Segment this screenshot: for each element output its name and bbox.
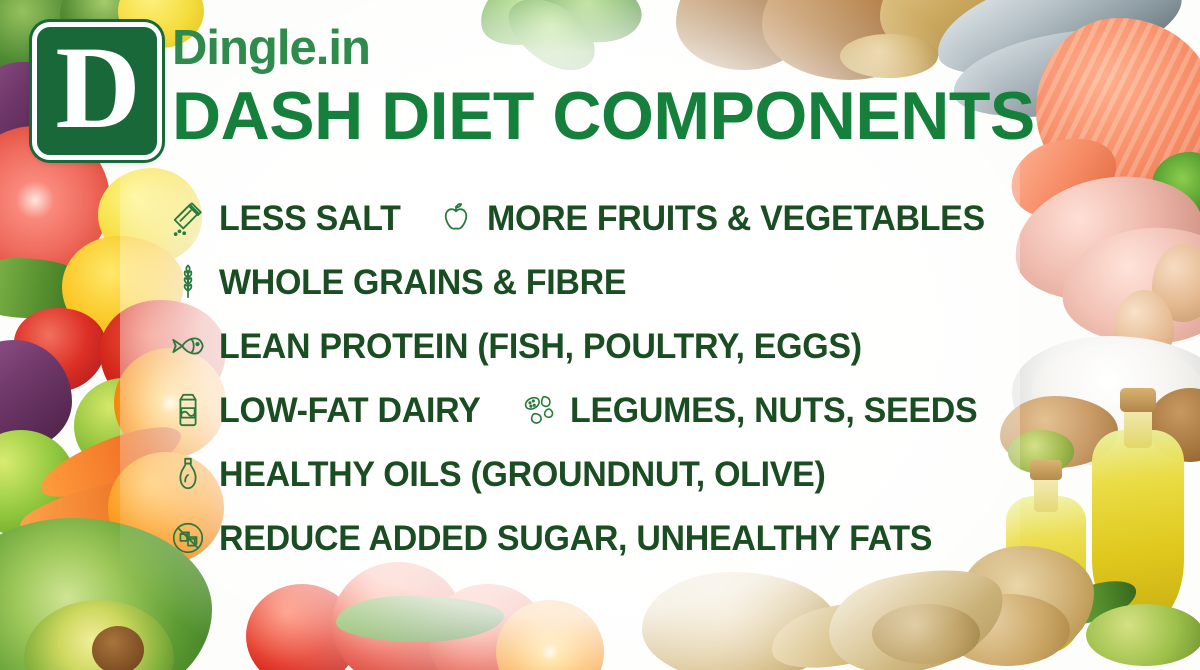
oats-image bbox=[872, 604, 980, 664]
list-row: LESS SALT MORE FRUITS & VEGETABLES bbox=[168, 186, 1068, 250]
list-row: REDUCE ADDED SUGAR, UNHEALTHY FATS bbox=[168, 506, 1068, 570]
list-item: LEAN PROTEIN (FISH, POULTRY, EGGS) bbox=[168, 326, 882, 366]
wheat-icon bbox=[168, 262, 208, 302]
olives-image bbox=[1086, 604, 1200, 666]
legumes-icon bbox=[519, 390, 559, 430]
brand-name: Dingle.in bbox=[172, 24, 370, 73]
list-row: HEALTHY OILS (GROUNDNUT, OLIVE) bbox=[168, 442, 1068, 506]
oil-bottle-icon bbox=[168, 454, 208, 494]
no-sugar-icon bbox=[168, 518, 208, 558]
dash-components-list: LESS SALT MORE FRUITS & VEGETABLES bbox=[168, 186, 1068, 570]
bottle-cork-image bbox=[1120, 388, 1156, 412]
list-row: LOW-FAT DAIRY LEGUMES, NUTS, SEEDS bbox=[168, 378, 1068, 442]
list-item: LOW-FAT DAIRY bbox=[168, 390, 489, 430]
list-item-label: WHOLE GRAINS & FIBRE bbox=[219, 265, 626, 300]
list-item-label: LEGUMES, NUTS, SEEDS bbox=[570, 393, 977, 428]
list-item-label: REDUCE ADDED SUGAR, UNHEALTHY FATS bbox=[219, 521, 932, 556]
list-item-label: HEALTHY OILS (GROUNDNUT, OLIVE) bbox=[219, 457, 825, 492]
list-row: LEAN PROTEIN (FISH, POULTRY, EGGS) bbox=[168, 314, 1068, 378]
list-item-label: MORE FRUITS & VEGETABLES bbox=[487, 201, 985, 236]
avocado-pit-image bbox=[92, 626, 144, 670]
fish-icon bbox=[168, 326, 208, 366]
logo-badge[interactable]: D bbox=[32, 22, 162, 160]
list-item-label: LEAN PROTEIN (FISH, POULTRY, EGGS) bbox=[219, 329, 862, 364]
logo-letter: D bbox=[55, 29, 138, 147]
infographic-canvas: D Dingle.in DASH DIET COMPONENTS LESS SA… bbox=[0, 0, 1200, 670]
salt-shaker-icon bbox=[168, 198, 208, 238]
list-row: WHOLE GRAINS & FIBRE bbox=[168, 250, 1068, 314]
wheat-grain-image bbox=[840, 34, 938, 78]
list-item-label: LOW-FAT DAIRY bbox=[219, 393, 480, 428]
list-item: WHOLE GRAINS & FIBRE bbox=[168, 262, 639, 302]
page-title: DASH DIET COMPONENTS bbox=[172, 82, 1035, 150]
list-item: LESS SALT bbox=[168, 198, 406, 238]
apple-icon bbox=[436, 198, 476, 238]
list-item: LEGUMES, NUTS, SEEDS bbox=[519, 390, 990, 430]
list-item-label: LESS SALT bbox=[219, 201, 401, 236]
list-item: HEALTHY OILS (GROUNDNUT, OLIVE) bbox=[168, 454, 844, 494]
milk-carton-icon bbox=[168, 390, 208, 430]
list-item: REDUCE ADDED SUGAR, UNHEALTHY FATS bbox=[168, 518, 954, 558]
list-item: MORE FRUITS & VEGETABLES bbox=[436, 198, 1000, 238]
